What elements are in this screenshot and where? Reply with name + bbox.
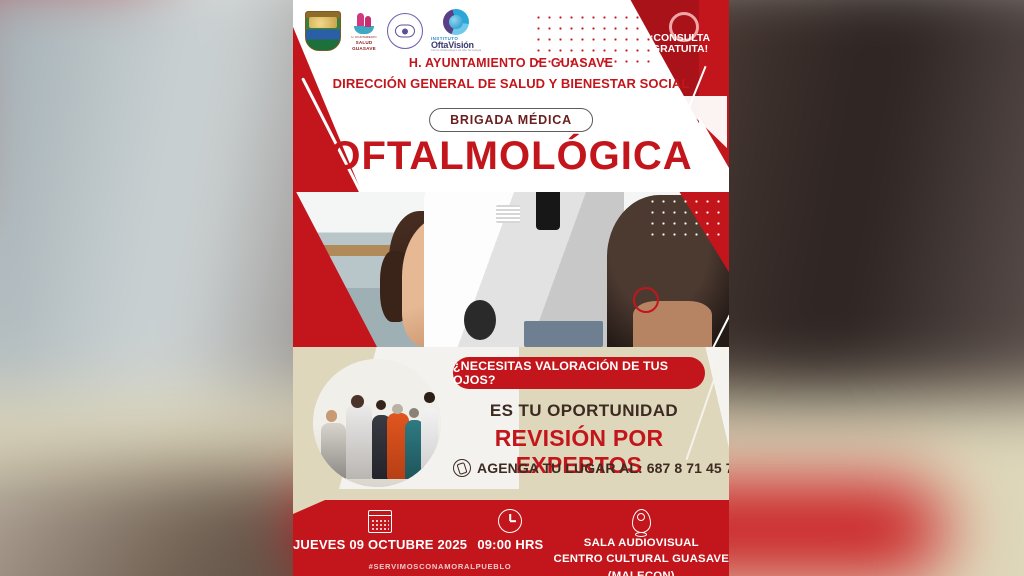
salud-guasave-logo: H. AYUNTAMIENTO SALUD GUASAVE	[349, 11, 379, 51]
group-photo-head-1	[326, 410, 338, 422]
calendar-icon	[368, 508, 392, 534]
poster-headline: OFTALMOLÓGICA	[293, 134, 729, 179]
photo-machine-vent	[496, 205, 520, 223]
oftavision-eye-mark-icon	[443, 9, 469, 35]
free-consultation-badge: ¡CONSULTA GRATUITA!	[637, 33, 723, 55]
phone-icon	[453, 459, 471, 477]
logo-row: H. AYUNTAMIENTO SALUD GUASAVE INSTITUTO …	[305, 4, 555, 58]
booking-row[interactable]: AGENGA TU LUGAR AL: 687 8 71 45 74	[453, 459, 717, 477]
salud-logo-sub: H. AYUNTAMIENTO	[351, 35, 376, 39]
escudo-guasave-logo	[305, 11, 341, 51]
oftavision-wordmark: INSTITUTO OftaVisión Centro Oftalmológic…	[431, 37, 481, 53]
group-photo-head-4	[392, 404, 402, 414]
brigade-group-photo	[313, 359, 441, 487]
question-pill: ¿NECESITAS VALORACIÓN DE TUS OJOS?	[453, 357, 705, 389]
footer-venue-line-1: SALA AUDIOVISUAL	[584, 537, 699, 550]
screenshot-root: H. AYUNTAMIENTO SALUD GUASAVE INSTITUTO …	[0, 0, 1024, 576]
footer-venue-line-3: (MALECON)	[608, 570, 675, 576]
group-photo-head-5	[409, 408, 419, 418]
photo-machine-screen	[524, 321, 602, 347]
location-pin-icon	[632, 508, 651, 534]
photo-machine-top-dark	[536, 192, 560, 230]
organization-line-2: DIRECCIÓN GENERAL DE SALUD Y BIENESTAR S…	[293, 76, 729, 91]
group-photo-person-6	[421, 408, 439, 480]
oftavision-tagline: Centro Oftalmológico de Alta Tecnología	[431, 50, 481, 53]
footer-date-column: JUEVES 09 OCTUBRE 2025	[293, 508, 467, 552]
poster-body: ¿NECESITAS VALORACIÓN DE TUS OJOS? ES TU…	[293, 347, 729, 514]
group-photo-person-1	[321, 423, 347, 479]
photo-machine-lens	[464, 300, 496, 340]
clock-icon	[498, 508, 522, 534]
brigade-eyebrow-badge: BRIGADA MÉDICA	[429, 108, 593, 132]
group-photo-head-3	[376, 400, 386, 410]
group-photo-head-2	[351, 395, 364, 408]
poster: H. AYUNTAMIENTO SALUD GUASAVE INSTITUTO …	[293, 0, 729, 576]
group-photo-head-6	[424, 392, 434, 402]
salud-figures-icon	[351, 11, 377, 35]
organization-line-1: H. AYUNTAMIENTO DE GUASAVE	[293, 56, 729, 70]
footer-venue-line-2: CENTRO CULTURAL GUASAVE	[554, 553, 729, 566]
footer-date: JUEVES 09 OCTUBRE 2025	[293, 537, 467, 552]
ophthalmology-photo	[293, 192, 729, 347]
group-photo-person-2	[346, 405, 372, 479]
salud-logo-caption: SALUD GUASAVE	[352, 40, 376, 51]
eye-seal-icon	[387, 13, 423, 49]
circle-outline-photo-icon	[633, 287, 659, 313]
salud-bowl-icon	[354, 26, 374, 34]
eye-icon	[395, 25, 415, 38]
opportunity-text: ES TU OPORTUNIDAD	[453, 401, 715, 421]
instituto-oftavision-logo: INSTITUTO OftaVisión Centro Oftalmológic…	[431, 9, 481, 53]
footer-venue-column: SALA AUDIOVISUAL CENTRO CULTURAL GUASAVE…	[554, 508, 729, 576]
coat-of-arms-icon	[305, 11, 341, 51]
footer-time-column: 09:00 HRS	[467, 508, 553, 552]
footer-hashtag: #SERVIMOSCONAMORALPUEBLO	[325, 562, 555, 571]
footer-time: 09:00 HRS	[477, 537, 543, 552]
dot-grid-photo-right	[647, 196, 725, 236]
booking-text: AGENGA TU LUGAR AL: 687 8 71 45 74	[477, 460, 729, 476]
poster-footer: JUEVES 09 OCTUBRE 2025 09:00 HRS SALA AU…	[293, 500, 729, 576]
vision-sin-fronteras-logo	[387, 13, 423, 49]
